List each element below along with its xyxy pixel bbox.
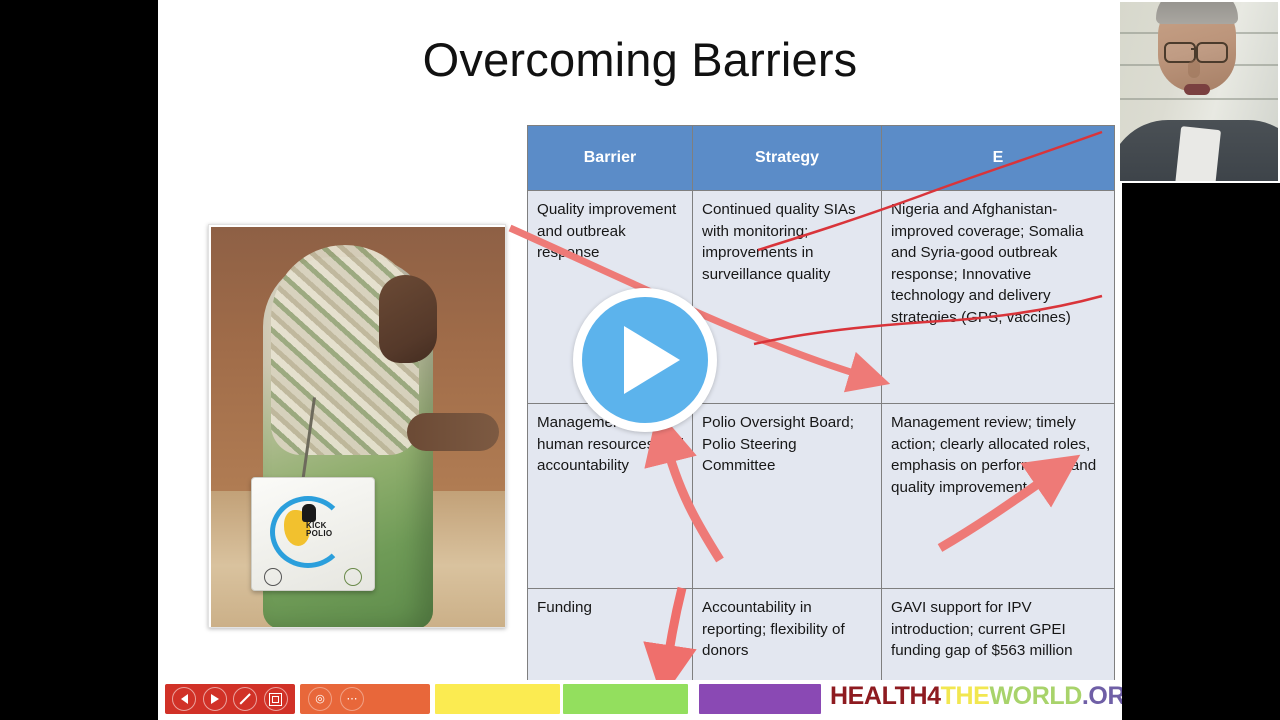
play-icon [624, 326, 680, 394]
glasses-bridge-icon [1191, 48, 1198, 50]
toolbar-group-red[interactable] [165, 684, 295, 714]
comment-icon[interactable]: ⋯ [340, 687, 364, 711]
annotation-toolbar: ◎ ⋯ HEALTH4THEWORLD.ORG [158, 680, 1122, 720]
brand-part-1: HEALTH4 [830, 682, 941, 710]
webcam-person-hair [1156, 0, 1238, 24]
cell-evidence-1: Nigeria and Afghanistan-improved coverag… [882, 191, 1115, 404]
table-header-evidence: E [882, 126, 1115, 191]
pen-icon[interactable] [233, 687, 257, 711]
table-header-strategy: Strategy [693, 126, 882, 191]
page-title: Overcoming Barriers [158, 32, 1122, 87]
cell-barrier-2: Management of human resources and accoun… [528, 404, 693, 589]
play-icon[interactable] [203, 687, 227, 711]
photo-vaccine-carrier: KICK POLIO [251, 477, 375, 591]
presentation-slide: Overcoming Barriers KICK POLIO [158, 0, 1122, 720]
kick-polio-logo-text: KICK POLIO [306, 522, 352, 538]
swatch-yellow[interactable] [435, 684, 560, 714]
carrier-seal-left-icon [264, 568, 282, 586]
webcam-person-collar [1175, 126, 1221, 183]
zoom-icon[interactable]: ◎ [308, 687, 332, 711]
table-row: Management of human resources and accoun… [528, 404, 1115, 589]
carrier-seal-right-icon [344, 568, 362, 586]
brand-part-3: WORLD [989, 682, 1081, 710]
play-video-button[interactable] [573, 288, 717, 432]
swatch-purple[interactable] [699, 684, 821, 714]
table-header-barrier: Barrier [528, 126, 693, 191]
glasses-right-lens-icon [1196, 42, 1228, 63]
webcam-person-mouth [1184, 84, 1210, 95]
cell-strategy-2: Polio Oversight Board; Polio Steering Co… [693, 404, 882, 589]
kick-polio-logo-icon: KICK POLIO [266, 492, 352, 562]
presenter-webcam[interactable] [1118, 0, 1280, 183]
polio-vaccinator-photo: KICK POLIO [208, 224, 506, 628]
table-row: Funding Accountability in reporting; fle… [528, 589, 1115, 692]
brand-part-4: .ORG [1082, 682, 1122, 710]
cell-barrier-3: Funding [528, 589, 693, 692]
speaker-icon[interactable] [172, 687, 196, 711]
cell-evidence-2: Management review; timely action; clearl… [882, 404, 1115, 589]
table-header-row: Barrier Strategy E [528, 126, 1115, 191]
brand-wordmark: HEALTH4THEWORLD.ORG [830, 682, 1122, 711]
photo-image: KICK POLIO [211, 227, 505, 627]
swatch-green[interactable] [563, 684, 688, 714]
webcam-person-nose [1188, 60, 1200, 78]
screenshot-icon[interactable] [264, 687, 288, 711]
letterbox-left [0, 0, 158, 720]
photo-person-arm [407, 413, 499, 451]
screen-recording-stage: Overcoming Barriers KICK POLIO [0, 0, 1280, 720]
brand-part-2: THE [941, 682, 990, 710]
cell-strategy-3: Accountability in reporting; flexibility… [693, 589, 882, 692]
cell-evidence-3: GAVI support for IPV introduction; curre… [882, 589, 1115, 692]
photo-person-face [379, 275, 437, 363]
toolbar-group-orange[interactable]: ◎ ⋯ [300, 684, 430, 714]
cell-strategy-1: Continued quality SIAs with monitoring; … [693, 191, 882, 404]
